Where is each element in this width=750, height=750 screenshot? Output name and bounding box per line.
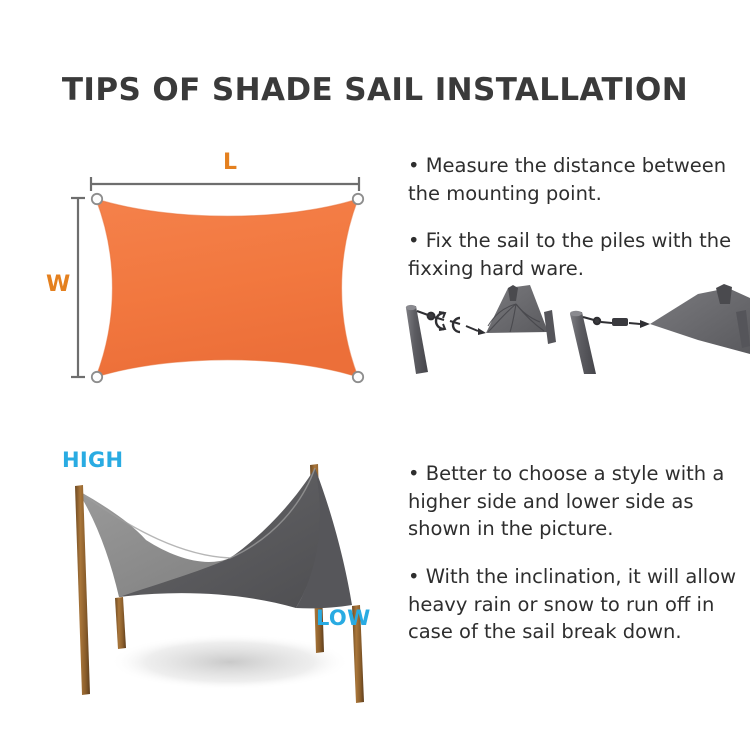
fixing-hardware-graphic bbox=[398, 282, 750, 374]
tip-line: shown in the picture. bbox=[408, 515, 750, 543]
hardware-assembly-right bbox=[570, 284, 750, 374]
sail-corner-right bbox=[650, 284, 750, 354]
tip-line: heavy rain or snow to run off in bbox=[408, 591, 750, 619]
hypar-sail-diagram: HIGH LOW bbox=[34, 440, 424, 710]
hypar-sail-graphic bbox=[34, 440, 424, 710]
ground-shadow bbox=[110, 634, 350, 690]
tip-line: • Measure the distance between bbox=[408, 152, 750, 180]
mounting-pole-icon bbox=[406, 305, 428, 374]
tip-line: the mounting point. bbox=[408, 180, 750, 208]
fixing-hardware-diagram bbox=[398, 282, 750, 374]
tip-line: • With the inclination, it will allow bbox=[408, 563, 750, 591]
width-dimension-line bbox=[71, 198, 85, 377]
tip-line: higher side and lower side as bbox=[408, 488, 750, 516]
page-title: TIPS OF SHADE SAIL INSTALLATION bbox=[0, 72, 750, 108]
sail-fabric-shape bbox=[96, 199, 358, 377]
tip-paragraph: • With the inclination, it will allow he… bbox=[408, 563, 750, 646]
rect-sail-diagram: L W bbox=[40, 138, 400, 400]
low-side-label: LOW bbox=[316, 608, 371, 629]
tips-top-text-block: • Measure the distance between the mount… bbox=[408, 152, 750, 283]
tip-line: • Better to choose a style with a bbox=[408, 460, 750, 488]
infographic-page: TIPS OF SHADE SAIL INSTALLATION bbox=[0, 0, 750, 750]
support-post bbox=[115, 597, 126, 649]
hardware-assembly-left bbox=[406, 285, 556, 374]
turnbuckle-icon bbox=[583, 317, 650, 328]
grommet-ring-icon bbox=[92, 372, 102, 382]
tip-line: fixxing hard ware. bbox=[408, 255, 750, 283]
high-side-label: HIGH bbox=[62, 450, 123, 471]
tip-line: • Fix the sail to the piles with the bbox=[408, 227, 750, 255]
length-dimension-label: L bbox=[223, 152, 237, 174]
grommet-ring-icon bbox=[353, 372, 363, 382]
tip-paragraph: • Fix the sail to the piles with the fix… bbox=[408, 227, 750, 282]
tip-paragraph: • Measure the distance between the mount… bbox=[408, 152, 750, 207]
rect-sail-graphic bbox=[40, 138, 400, 400]
length-dimension-line bbox=[91, 177, 359, 191]
support-post bbox=[75, 485, 90, 695]
grommet-ring-icon bbox=[92, 194, 102, 204]
grommet-ring-icon bbox=[353, 194, 363, 204]
turnbuckle-icon bbox=[417, 311, 486, 335]
tip-paragraph: • Better to choose a style with a higher… bbox=[408, 460, 750, 543]
width-dimension-label: W bbox=[46, 274, 70, 296]
sail-corner-left bbox=[486, 285, 556, 344]
tip-line: case of the sail break down. bbox=[408, 618, 750, 646]
tips-bottom-text-block: • Better to choose a style with a higher… bbox=[408, 460, 750, 646]
